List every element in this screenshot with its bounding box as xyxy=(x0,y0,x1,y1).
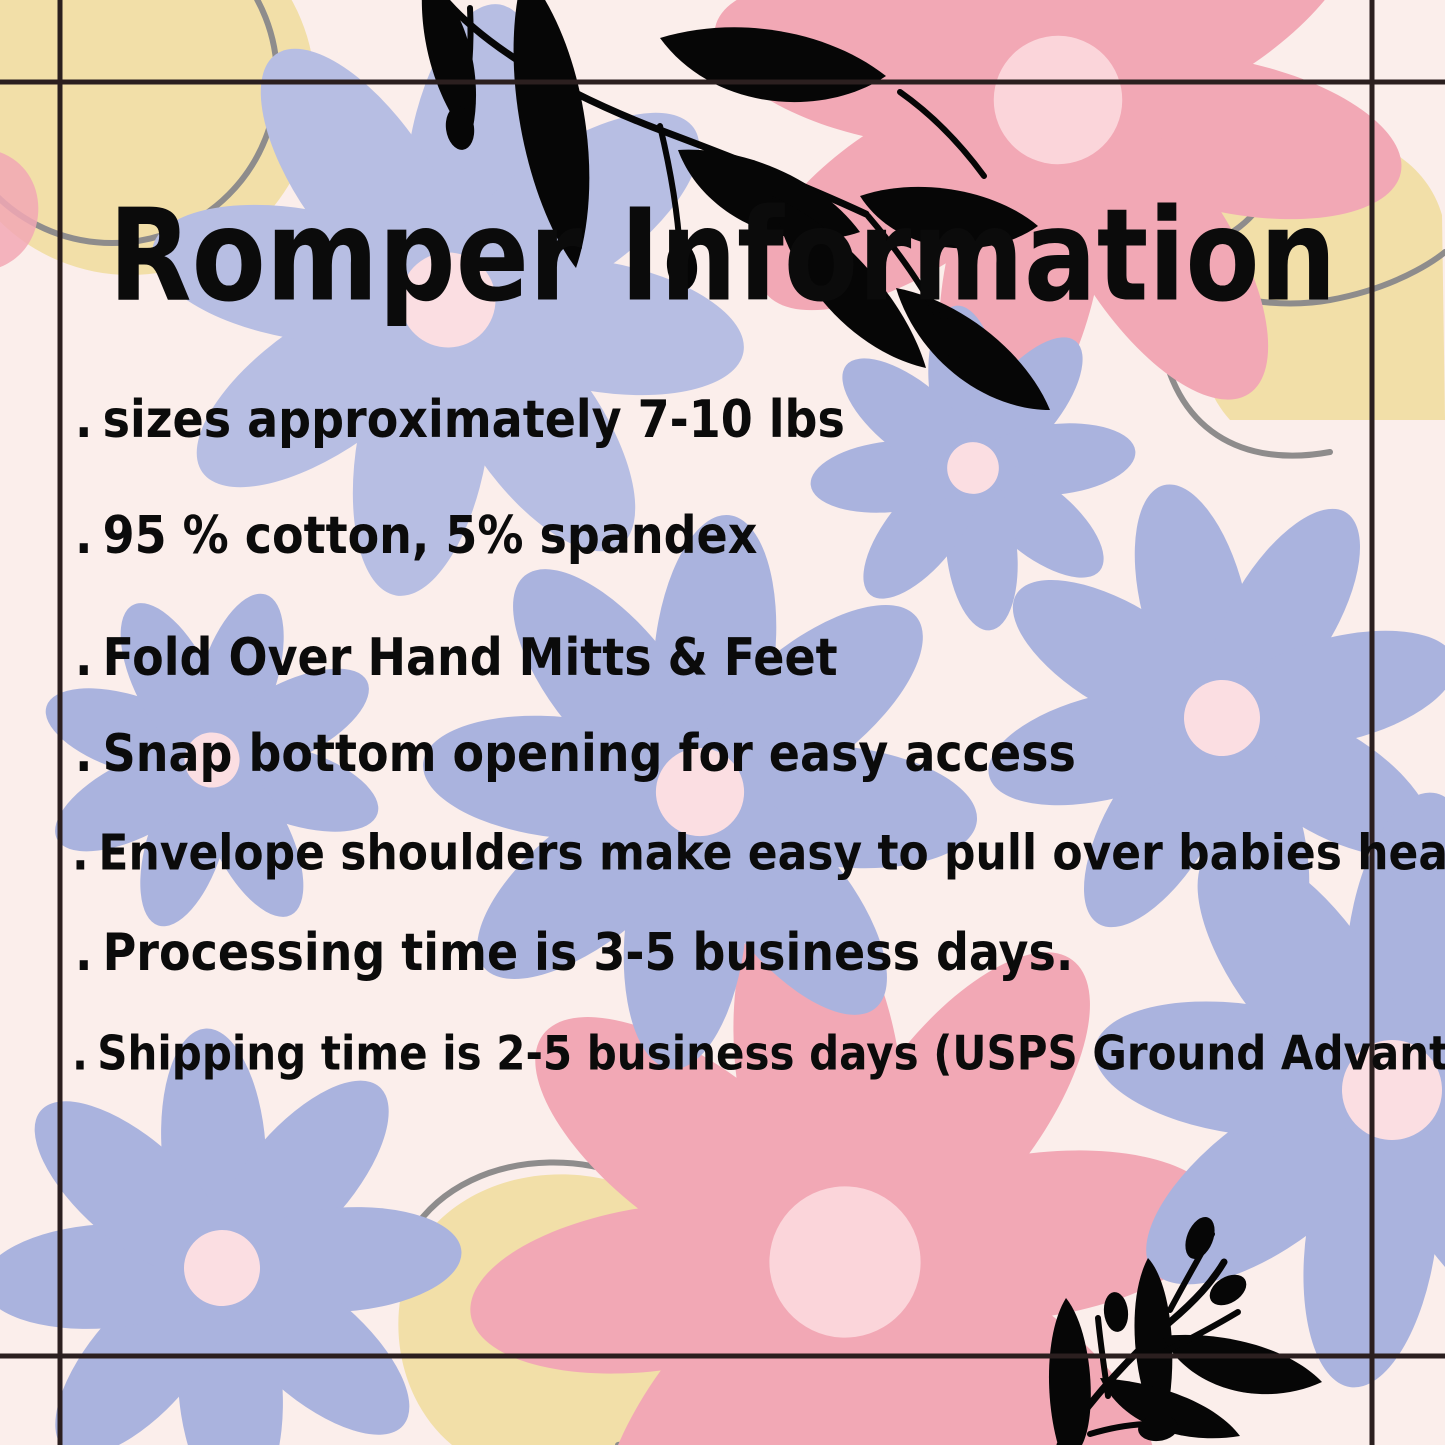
list-item: .Envelope shoulders make easy to pull ov… xyxy=(72,825,1422,882)
list-item: .95 % cotton, 5% spandex xyxy=(75,505,1422,565)
list-item: .sizes approximately 7-10 lbs xyxy=(75,389,1422,449)
list-item-label: Processing time is 3-5 business days. xyxy=(103,922,1074,982)
list-item: .Fold Over Hand Mitts & Feet xyxy=(75,627,1422,687)
romper-information-list: .sizes approximately 7-10 lbs .95 % cott… xyxy=(62,392,1422,1078)
bullet-marker: . xyxy=(72,825,89,882)
list-item: .Snap bottom opening for easy access xyxy=(75,723,1422,783)
poster-canvas: Romper Information .sizes approximately … xyxy=(0,0,1445,1445)
page-title: Romper Information xyxy=(0,190,1445,324)
bullet-marker: . xyxy=(75,389,92,449)
bullet-marker: . xyxy=(75,723,92,783)
list-item-label: Fold Over Hand Mitts & Feet xyxy=(103,627,838,687)
list-item-label: Snap bottom opening for easy access xyxy=(103,723,1076,783)
bullet-marker: . xyxy=(75,627,92,687)
bullet-marker: . xyxy=(72,1026,88,1081)
list-item-label: 95 % cotton, 5% spandex xyxy=(103,505,758,565)
bullet-marker: . xyxy=(75,505,92,565)
list-item-label: Shipping time is 2-5 business days (USPS… xyxy=(97,1026,1445,1081)
list-item-label: sizes approximately 7-10 lbs xyxy=(103,389,845,449)
list-item: .Shipping time is 2-5 business days (USP… xyxy=(72,1026,1422,1081)
bullet-marker: . xyxy=(75,922,92,982)
list-item: .Processing time is 3-5 business days. xyxy=(75,922,1422,982)
list-item-label: Envelope shoulders make easy to pull ove… xyxy=(98,825,1445,882)
